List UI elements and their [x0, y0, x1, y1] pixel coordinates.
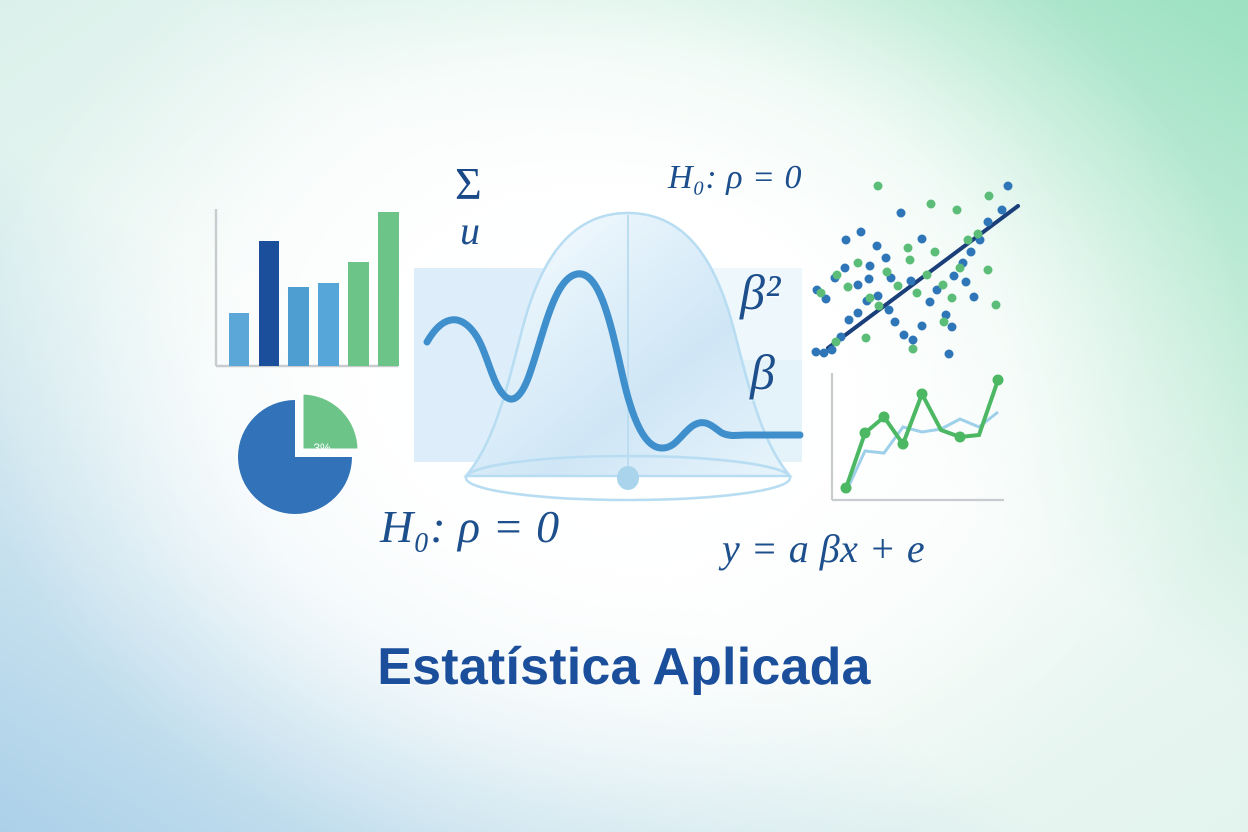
h0-hypothesis-top: H₀: ρ = 0 [668, 159, 802, 197]
page-title: Estatística Aplicada [0, 637, 1248, 697]
regression-equation: y = a βx + e [722, 525, 925, 572]
sigma-symbol: Σ [455, 157, 482, 210]
line-chart [0, 0, 1248, 832]
h0-hypothesis-bottom: H₀: ρ = 0 [380, 500, 560, 553]
beta-symbol: β [750, 343, 775, 401]
u-symbol: u [460, 207, 481, 254]
poster-canvas: 3% [0, 0, 1248, 832]
beta-squared-symbol: β² [740, 263, 781, 321]
line-series-blue [846, 412, 998, 492]
